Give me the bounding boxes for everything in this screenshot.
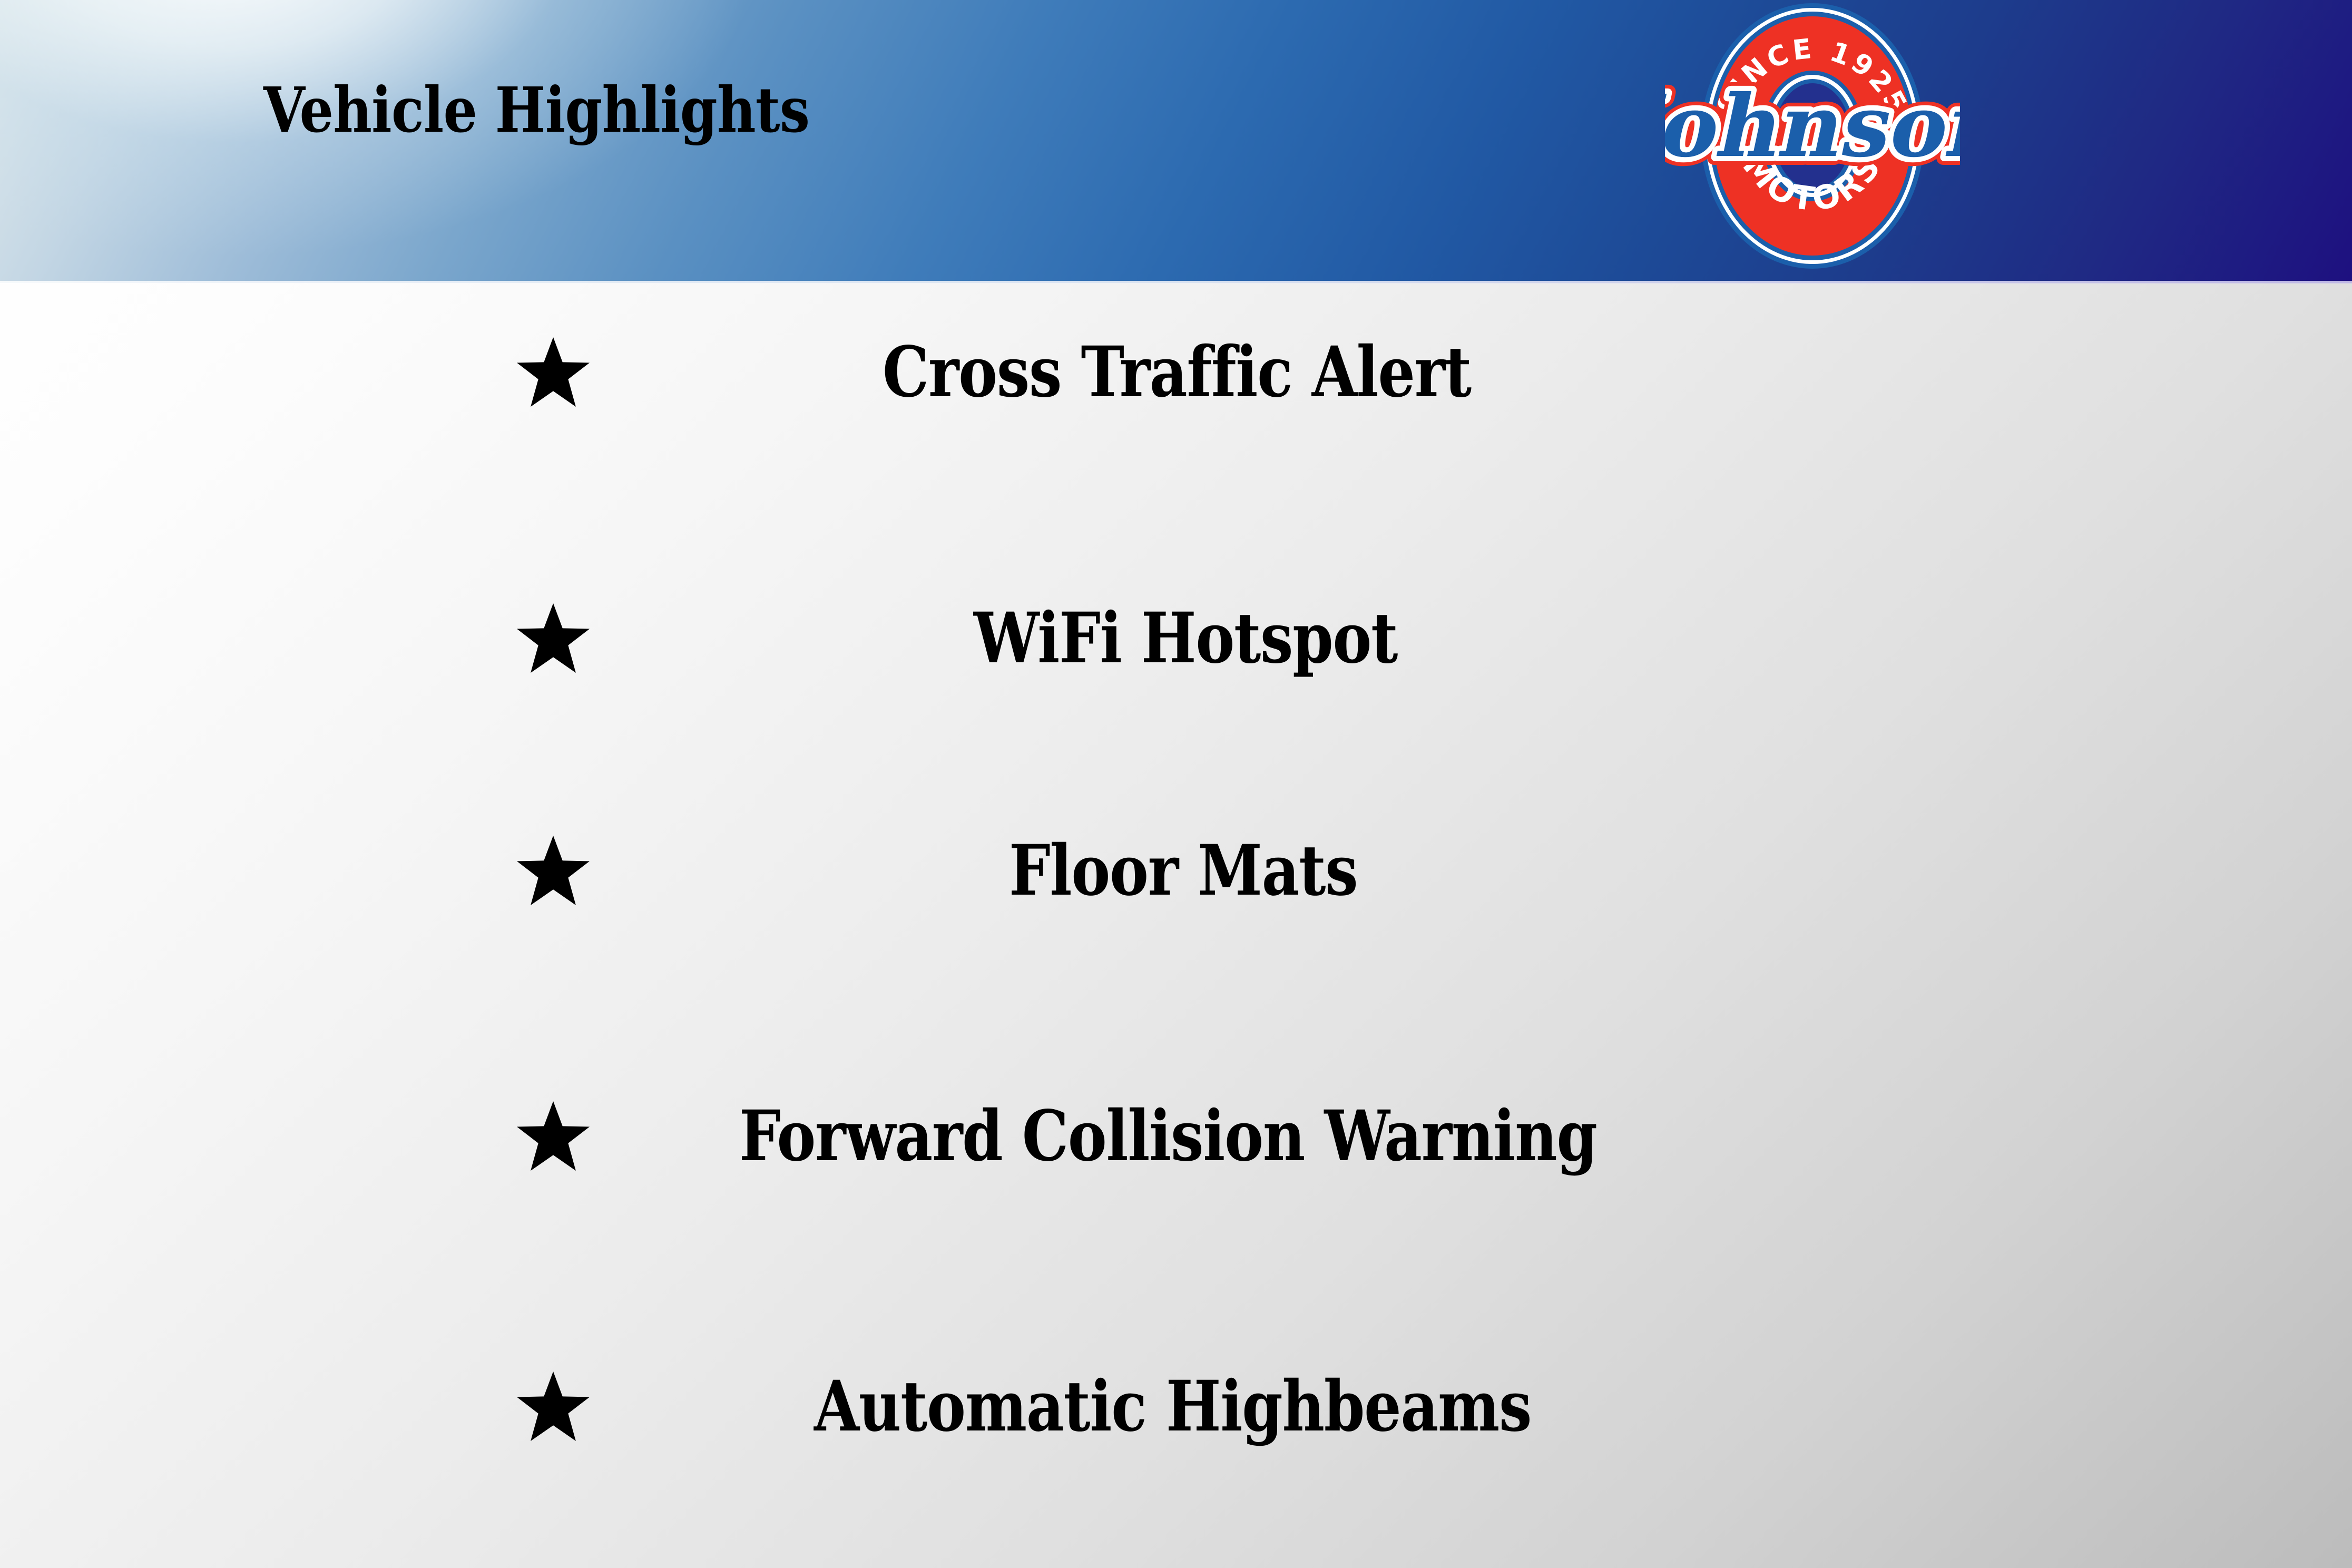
star-icon <box>514 1098 593 1177</box>
johnson-motors-logo: SINCE 1925 MOTORS Johnson Johnson Johnso… <box>1665 0 1960 283</box>
list-item-label: Forward Collision Warning <box>739 1093 1597 1180</box>
star-icon <box>514 1368 593 1447</box>
star-icon <box>514 832 593 912</box>
svg-text:Johnson: Johnson <box>1665 76 1960 177</box>
logo-brand-name-text: Johnson Johnson Johnson <box>1665 76 1960 177</box>
list-item-label: WiFi Hotspot <box>974 595 1397 682</box>
vehicle-highlights-list: Cross Traffic Alert WiFi Hotspot Floor M… <box>0 283 2352 1568</box>
page-title: Vehicle Highlights <box>263 79 809 141</box>
star-icon <box>514 334 593 413</box>
star-icon <box>514 600 593 679</box>
list-item-label: Automatic Highbeams <box>814 1363 1531 1450</box>
slide-root: Vehicle Highlights SINCE 19 <box>0 0 2352 1568</box>
list-item-label: Floor Mats <box>1009 827 1357 914</box>
list-item-label: Cross Traffic Alert <box>883 329 1471 416</box>
